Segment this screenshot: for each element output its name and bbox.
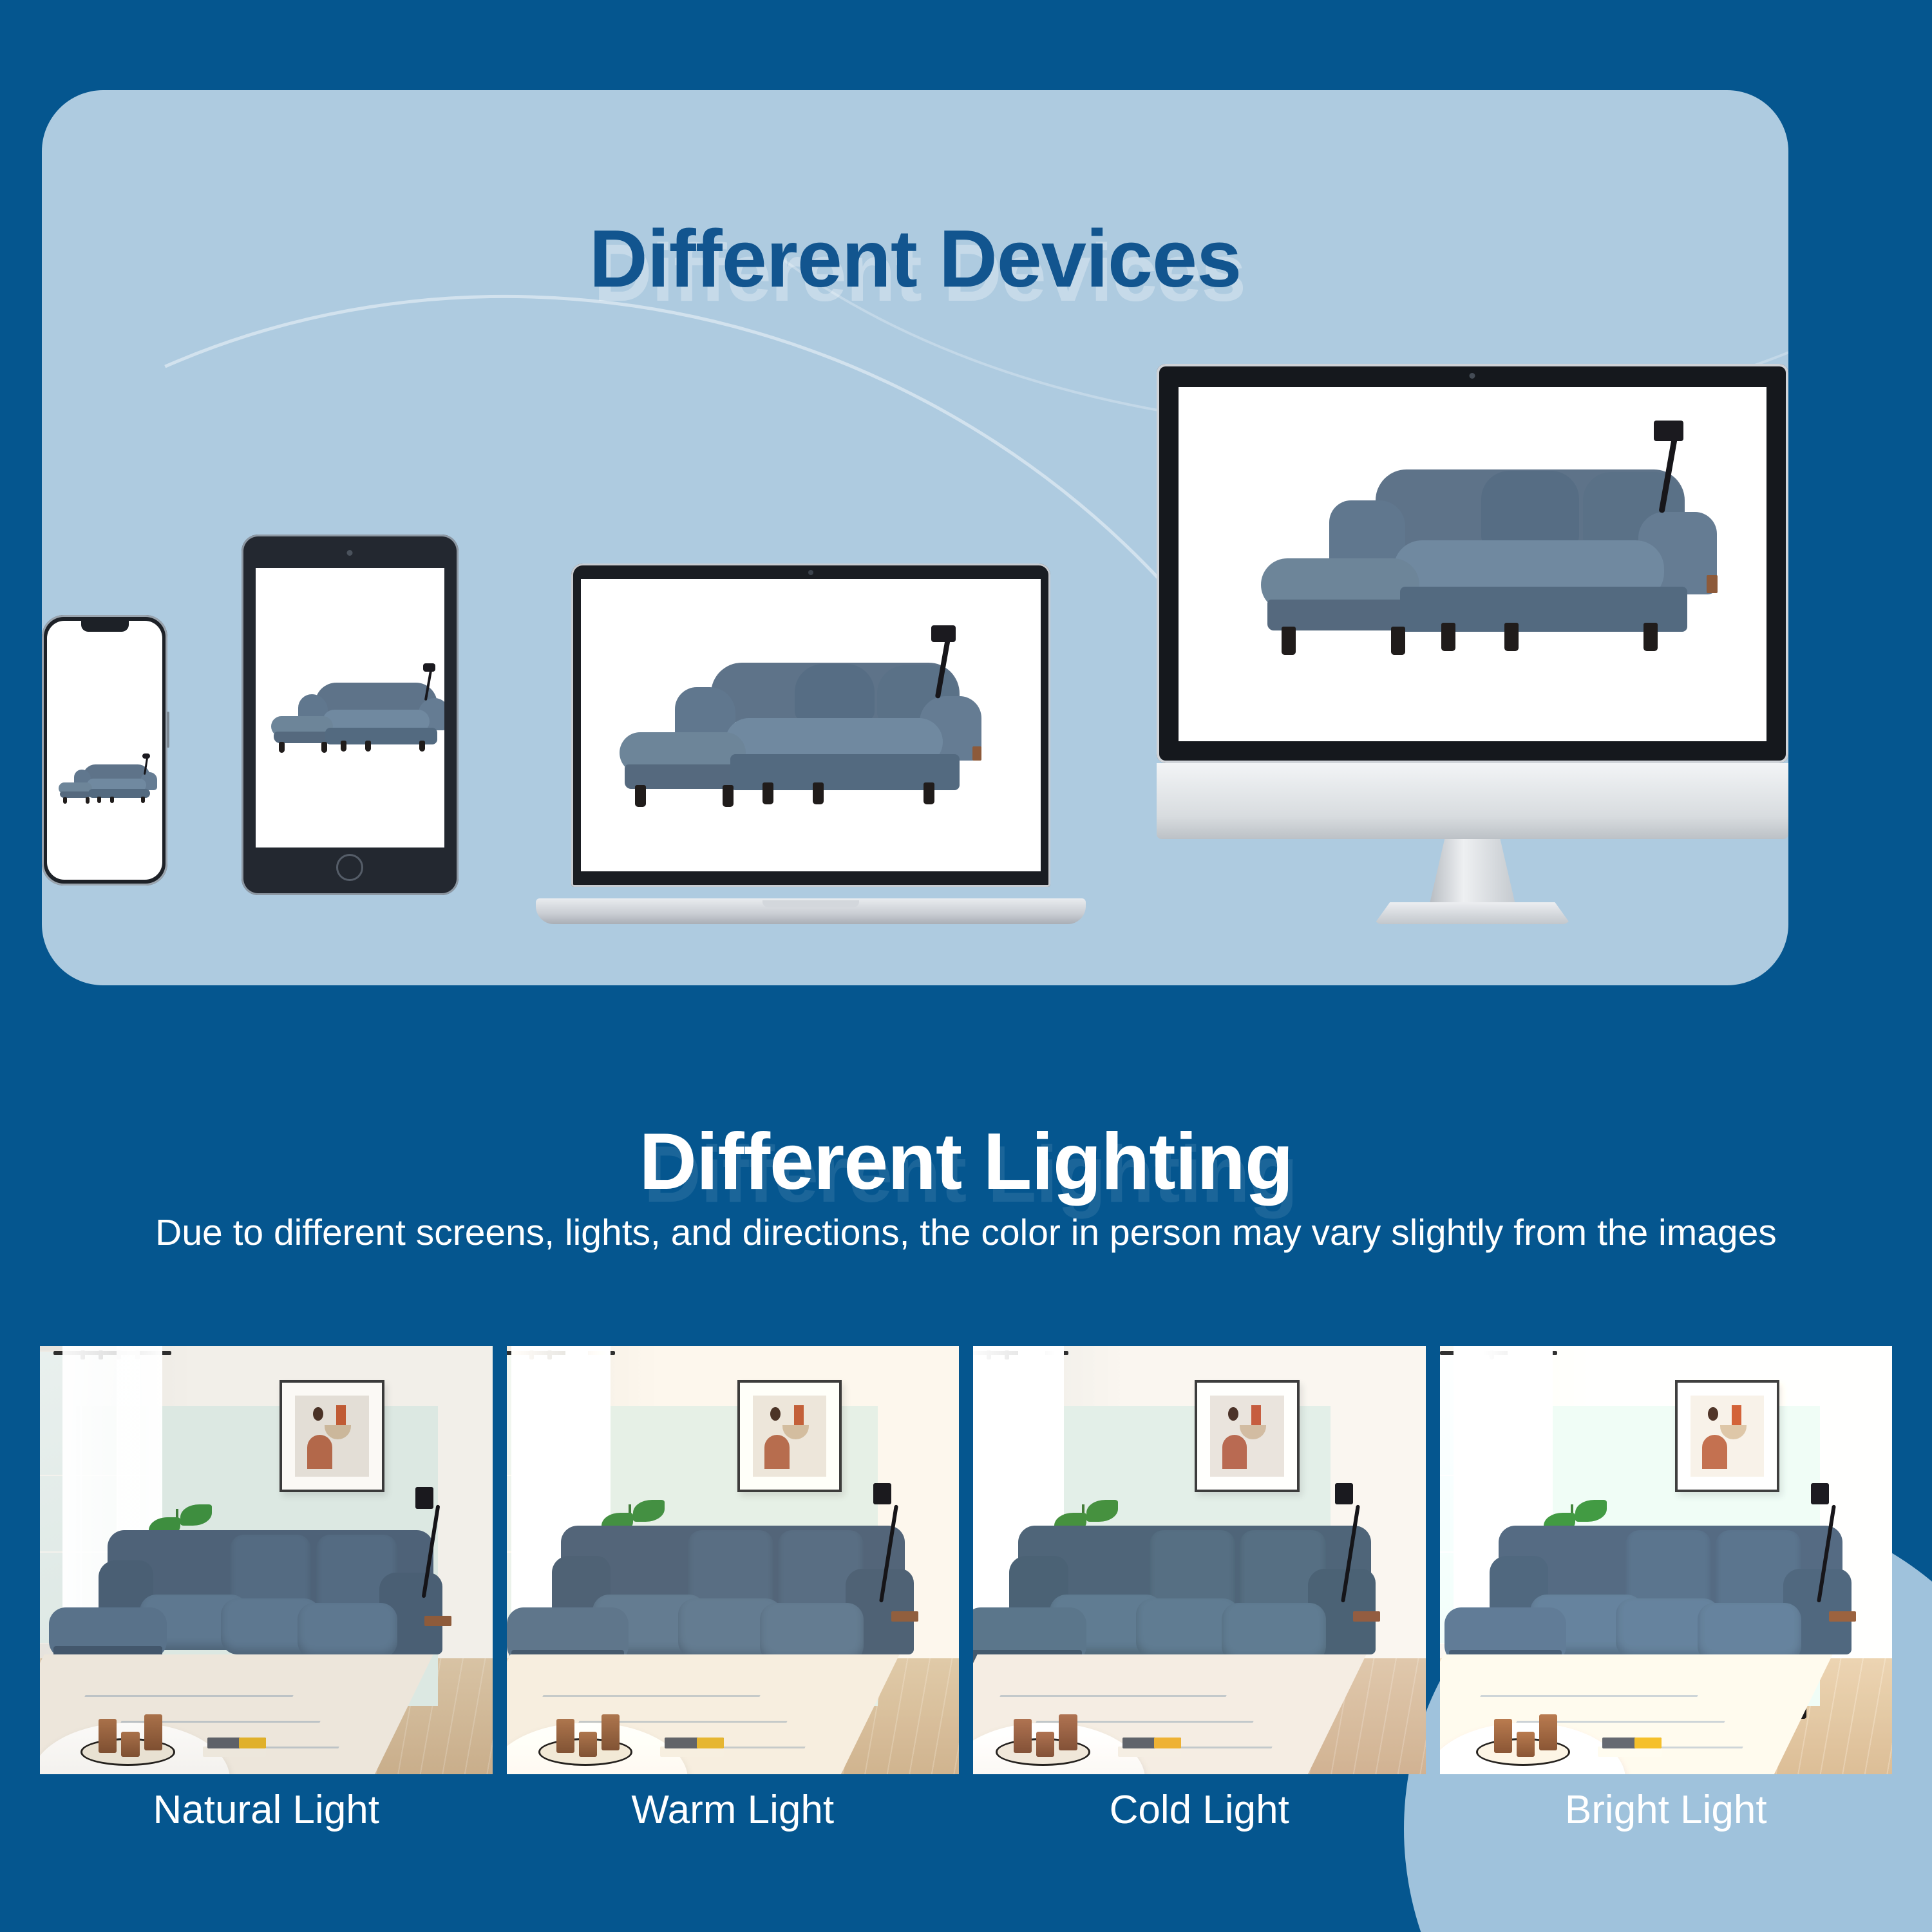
different-devices-panel: Different Devices: [42, 90, 1788, 985]
monitor-stand-foot: [1374, 902, 1571, 924]
phone-screen: [47, 621, 162, 880]
monitor-stand-neck: [1429, 839, 1516, 907]
lighting-section-subtitle: Due to different screens, lights, and di…: [77, 1209, 1855, 1257]
sofa-product-image-monitor: [1248, 454, 1738, 667]
laptop-trackpad-notch: [762, 900, 859, 907]
room-scene: [40, 1346, 493, 1774]
laptop-screen: [581, 579, 1041, 871]
lighting-photo-warm[interactable]: [507, 1346, 960, 1774]
sofa-product-image-phone: [55, 759, 162, 811]
monitor-camera-icon: [1470, 373, 1475, 379]
tablet-camera-icon: [347, 550, 353, 556]
phone-side-button: [167, 712, 169, 748]
label-natural-light: Natural Light: [40, 1790, 493, 1830]
tablet-home-button[interactable]: [336, 854, 363, 881]
tablet-screen: [256, 568, 444, 848]
room-scene: [1440, 1346, 1893, 1774]
room-scene: [507, 1346, 960, 1774]
label-cold-light: Cold Light: [973, 1790, 1426, 1830]
room-scene: [973, 1346, 1426, 1774]
lighting-photo-cold[interactable]: [973, 1346, 1426, 1774]
label-warm-light: Warm Light: [507, 1790, 960, 1830]
lighting-photo-natural[interactable]: [40, 1346, 493, 1774]
phone-notch: [81, 621, 129, 632]
monitor-screen: [1179, 387, 1766, 741]
laptop-camera-icon: [808, 570, 813, 575]
device-phone: [42, 615, 167, 885]
lighting-photo-bright[interactable]: [1440, 1346, 1893, 1774]
device-tablet: [241, 535, 458, 895]
label-bright-light: Bright Light: [1440, 1790, 1893, 1830]
sofa-product-image-tablet: [265, 676, 444, 757]
lighting-section-title: Different Lighting: [0, 1116, 1932, 1207]
device-laptop: [536, 563, 1086, 924]
device-monitor: [1157, 364, 1788, 924]
monitor-chin: [1157, 763, 1788, 839]
devices-section-title: Different Devices: [42, 212, 1788, 305]
device-mockup-row: [42, 312, 1788, 924]
lighting-photo-labels: Natural Light Warm Light Cold Light Brig…: [40, 1790, 1892, 1830]
lighting-photo-grid: [40, 1346, 1892, 1774]
sofa-product-image-laptop: [608, 651, 1001, 812]
